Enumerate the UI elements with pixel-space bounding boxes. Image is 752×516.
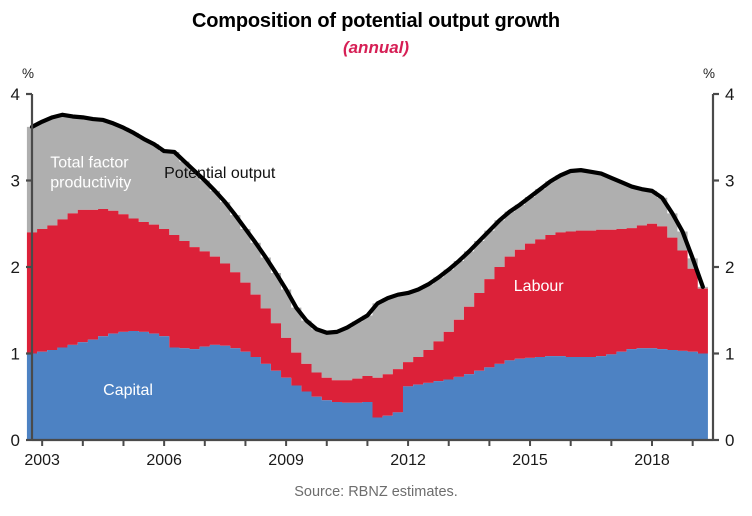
y-tick-label-right: 1: [725, 345, 734, 364]
y-tick-label-right: 0: [725, 431, 734, 450]
capital-label: Capital: [103, 382, 153, 399]
x-tick-label: 2015: [512, 452, 548, 469]
y-tick-label-left: 4: [11, 85, 20, 104]
y-tick-label-right: 4: [725, 85, 734, 104]
x-tick-label: 2012: [390, 452, 426, 469]
y-tick-label-left: 0: [11, 431, 20, 450]
left-axis-unit: %: [22, 66, 34, 81]
y-tick-label-left: 3: [11, 172, 20, 191]
y-tick-label-right: 2: [725, 258, 734, 277]
chart-title: Composition of potential output growth: [0, 10, 752, 33]
right-axis-unit: %: [703, 66, 715, 81]
chart-subtitle: (annual): [0, 38, 752, 58]
x-tick-label: 2009: [268, 452, 304, 469]
y-tick-label-left: 1: [11, 345, 20, 364]
labour-label: Labour: [514, 278, 564, 295]
x-tick-label: 2018: [634, 452, 670, 469]
chart-root: Composition of potential output growth (…: [0, 0, 752, 516]
potential-output-label: Potential output: [164, 165, 276, 182]
x-tick-label: 2003: [24, 452, 60, 469]
x-tick-label: 2006: [146, 452, 182, 469]
chart-plot-area: 0011223344200320062009201220152018 Total…: [0, 0, 752, 470]
y-tick-label-left: 2: [11, 258, 20, 277]
y-tick-label-right: 3: [725, 172, 734, 191]
source-note: Source: RBNZ estimates.: [0, 484, 752, 500]
